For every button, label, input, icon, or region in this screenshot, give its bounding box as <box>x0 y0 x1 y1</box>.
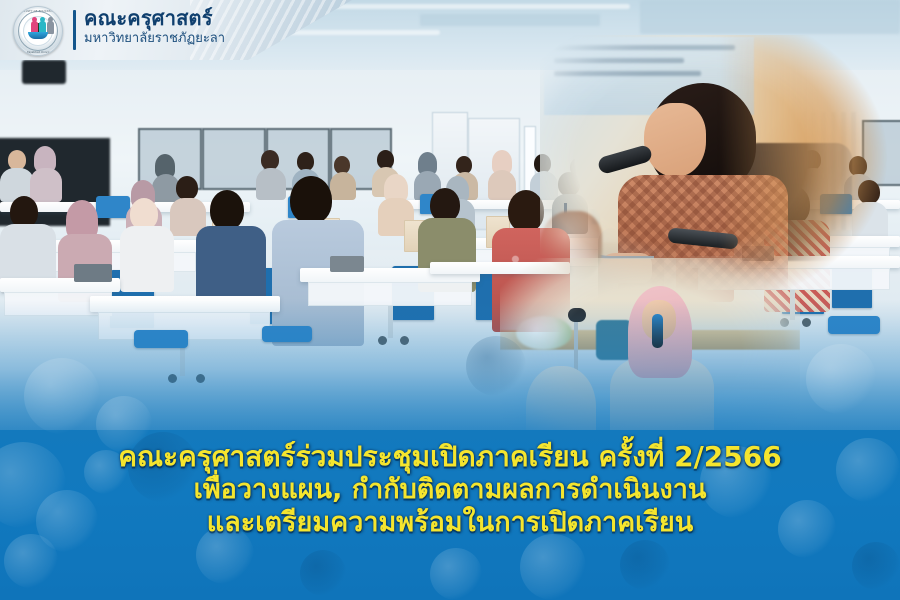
seal-ring-text-top: FACULTY OF EDUCATION <box>14 10 62 13</box>
header-text-group: คณะครุศาสตร์ มหาวิทยาลัยราชภัฏยะลา <box>84 7 225 47</box>
laptop <box>330 256 364 272</box>
figure-icon-gray <box>47 21 54 34</box>
seal-inner-disc <box>23 16 53 46</box>
ceiling-projector <box>22 60 66 84</box>
headline-block: คณะครุศาสตร์ร่วมประชุมเปิดภาคเรียน ครั้ง… <box>0 440 900 540</box>
header-divider <box>73 10 76 50</box>
faculty-title: คณะครุศาสตร์ <box>84 7 225 30</box>
poster-canvas: FACULTY OF EDUCATION Yala Rajabhat Unive… <box>0 0 900 600</box>
inset-photo-speaker <box>540 35 900 290</box>
headline-line-1: คณะครุศาสตร์ร่วมประชุมเปิดภาคเรียน ครั้ง… <box>0 440 900 474</box>
wave-arc-icon <box>28 32 48 39</box>
headline-line-2: เพื่อวางแผน, กำกับติดตามผลการดำเนินงาน <box>0 474 900 507</box>
speaker-face <box>644 103 706 177</box>
laptop <box>74 264 112 282</box>
yru-faculty-seal-logo: FACULTY OF EDUCATION Yala Rajabhat Unive… <box>13 6 63 56</box>
seal-ring-text-bottom: Yala Rajabhat University <box>14 51 62 54</box>
headline-line-3: และเตรียมความพร้อมในการเปิดภาคเรียน <box>0 507 900 540</box>
warm-glow-overlay <box>720 35 900 290</box>
header-banner: FACULTY OF EDUCATION Yala Rajabhat Unive… <box>0 0 352 60</box>
university-subtitle: มหาวิทยาลัยราชภัฏยะลา <box>84 31 225 47</box>
